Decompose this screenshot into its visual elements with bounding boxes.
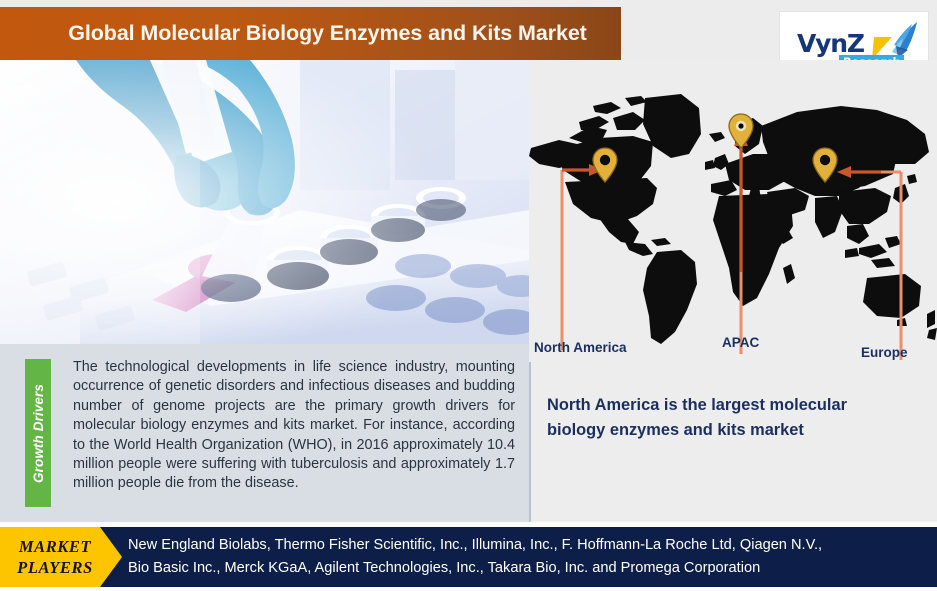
infographic-root: Global Molecular Biology Enzymes and Kit… — [0, 0, 937, 591]
market-players-line1: New England Biolabs, Thermo Fisher Scien… — [128, 534, 928, 557]
arrow-europe — [861, 172, 901, 360]
growth-drivers-tab: Growth Drivers — [25, 359, 51, 507]
region-highlight-text: North America is the largest molecular b… — [547, 393, 922, 443]
panel-divider — [529, 344, 531, 522]
map-annotations — [529, 92, 937, 362]
arrow-north-america — [562, 170, 591, 350]
lab-photo-illustration — [0, 60, 529, 344]
bottom-background-strip — [0, 587, 937, 591]
map-label-europe: Europe — [861, 345, 908, 360]
growth-drivers-body: The technological developments in life s… — [73, 358, 515, 494]
market-players-line2: Bio Basic Inc., Merck KGaA, Agilent Tech… — [128, 557, 928, 580]
map-pin-icon-apac — [729, 114, 753, 148]
map-label-apac: APAC — [722, 335, 759, 350]
market-players-tag-line1: MARKET — [19, 536, 91, 557]
logo-wordmark-accent: Z — [847, 29, 864, 58]
arrowhead-europe — [837, 166, 851, 178]
lab-photo — [0, 60, 529, 344]
growth-drivers-tab-label: Growth Drivers — [31, 384, 46, 483]
logo-wordmark-main: Vyn — [797, 29, 847, 58]
title-banner: Global Molecular Biology Enzymes and Kit… — [0, 7, 621, 60]
page-title: Global Molecular Biology Enzymes and Kit… — [68, 21, 587, 46]
market-players-list: New England Biolabs, Thermo Fisher Scien… — [128, 534, 928, 580]
world-map — [529, 92, 937, 362]
map-pin-icon-europe — [813, 148, 837, 182]
market-players-tag-line2: PLAYERS — [17, 557, 93, 578]
logo-wordmark: VynZ — [797, 31, 864, 56]
market-players-tag: MARKET PLAYERS — [0, 527, 122, 587]
map-pin-icon-north-america — [593, 148, 617, 182]
map-label-north-america: North America — [534, 340, 627, 355]
region-highlight-line2: biology enzymes and kits market — [547, 418, 922, 443]
region-highlight-line1: North America is the largest molecular — [547, 393, 922, 418]
growth-drivers-panel: Growth Drivers The technological develop… — [0, 344, 529, 522]
